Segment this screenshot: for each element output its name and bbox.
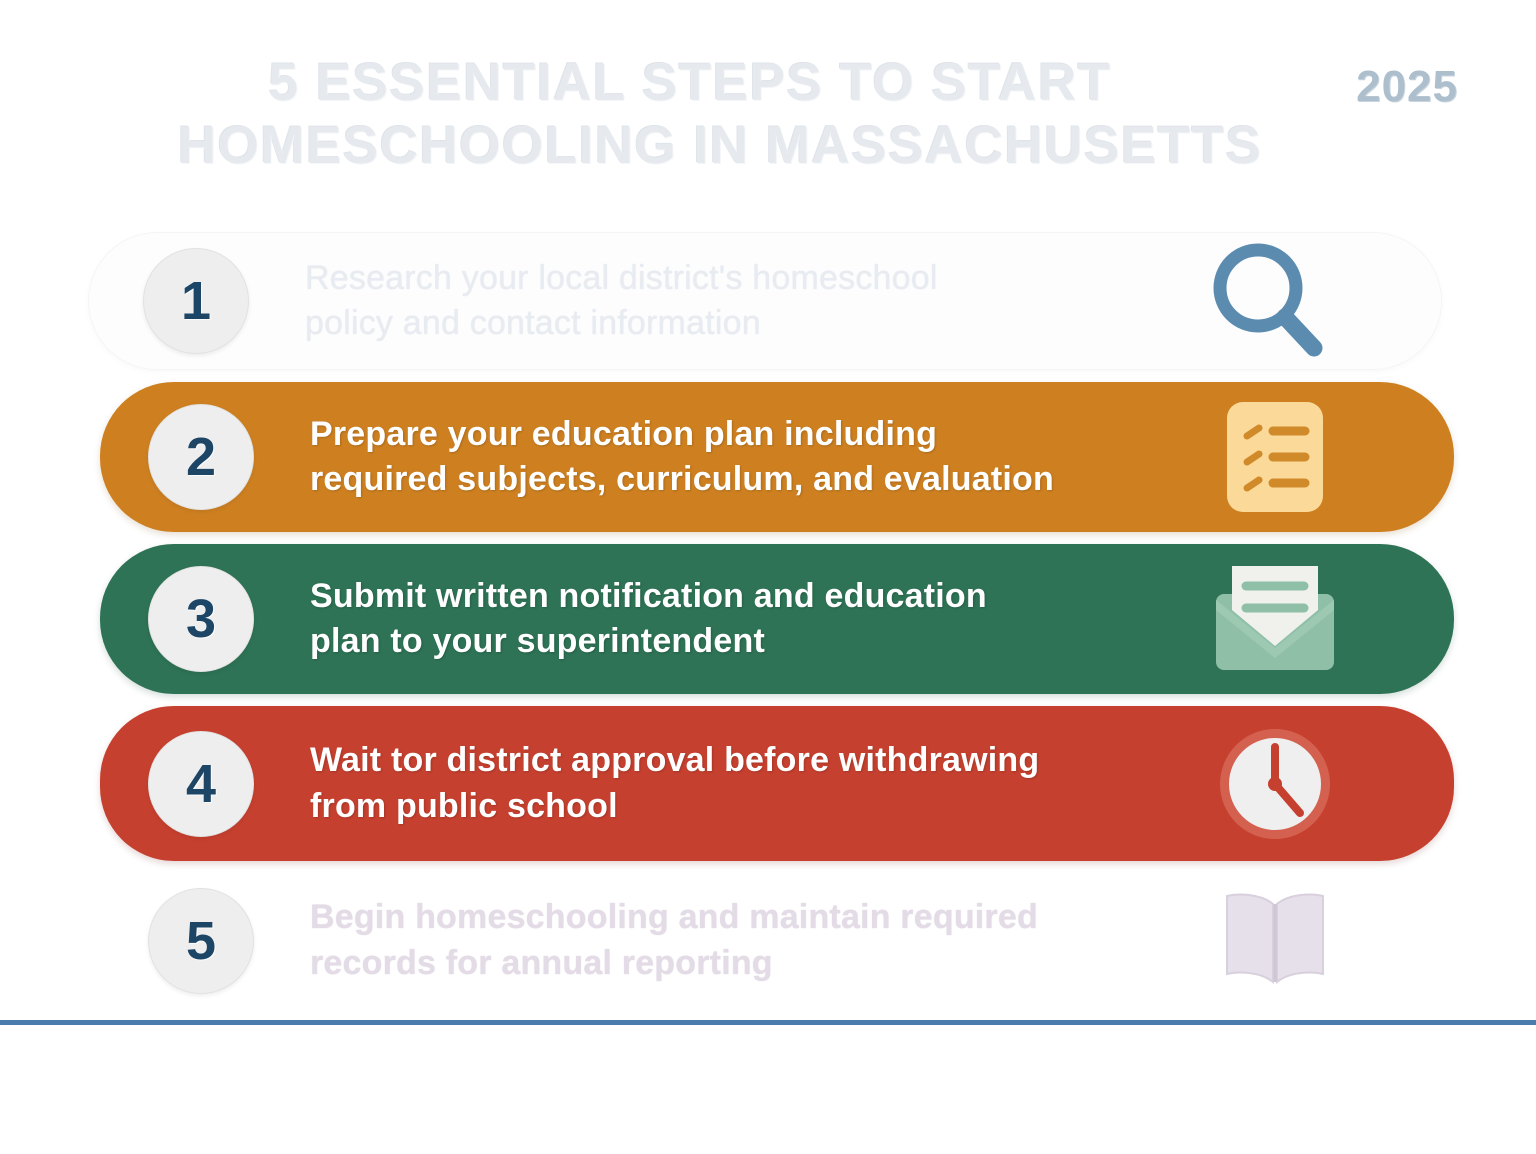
bottom-divider [0,1020,1536,1025]
step-text-1-line-2: policy and contact information [305,301,1173,346]
step-number-5: 5 [186,914,216,968]
step-text-1: Research your local district's homeschoo… [305,256,1193,346]
envelope-icon [1200,559,1350,679]
step-text-4-line-1: Wait tor district approval before withdr… [310,738,1180,783]
step-text-2-line-2: required subjects, curriculum, and evalu… [310,457,1180,502]
step-number-badge-4: 4 [148,731,254,837]
title-line-1: 5 ESSENTIAL STEPS TO START [0,52,1440,115]
step-text-3-line-1: Submit written notification and educatio… [310,574,1180,619]
step-number-1: 1 [181,274,211,328]
step-text-2: Prepare your education plan including re… [310,412,1200,502]
step-number-badge-5: 5 [148,888,254,994]
step-row-2[interactable]: 2 Prepare your education plan including … [100,382,1454,532]
steps-list: 1 Research your local district's homesch… [0,232,1536,1020]
magnifying-glass-icon [1193,241,1343,361]
step-text-3-line-2: plan to your superintendent [310,619,1180,664]
step-row-5[interactable]: 5 Begin homeschooling and maintain requi… [100,873,1454,1008]
step-row-4[interactable]: 4 Wait tor district approval before with… [100,706,1454,861]
clock-icon [1200,724,1350,844]
step-number-2: 2 [186,430,216,484]
step-number-badge-1: 1 [143,248,249,354]
open-book-icon [1200,881,1350,1001]
step-text-2-line-1: Prepare your education plan including [310,412,1180,457]
step-text-4: Wait tor district approval before withdr… [310,738,1200,828]
step-number-3: 3 [186,592,216,646]
page-title: 5 ESSENTIAL STEPS TO START HOMESCHOOLING… [0,52,1440,177]
step-row-1[interactable]: 1 Research your local district's homesch… [88,232,1442,370]
step-number-4: 4 [186,757,216,811]
step-text-5-line-2: records for annual reporting [310,941,1180,986]
year-label: 2025 [1356,62,1458,112]
step-text-3: Submit written notification and educatio… [310,574,1200,664]
infographic-header: 5 ESSENTIAL STEPS TO START HOMESCHOOLING… [0,0,1536,210]
step-text-1-line-1: Research your local district's homeschoo… [305,256,1173,301]
step-text-4-line-2: from public school [310,784,1180,829]
step-text-5-line-1: Begin homeschooling and maintain require… [310,895,1180,940]
checklist-document-icon [1200,397,1350,517]
step-number-badge-3: 3 [148,566,254,672]
step-text-5: Begin homeschooling and maintain require… [310,895,1200,985]
step-number-badge-2: 2 [148,404,254,510]
title-line-2: HOMESCHOOLING IN MASSACHUSETTS [0,115,1440,178]
step-row-3[interactable]: 3 Submit written notification and educat… [100,544,1454,694]
